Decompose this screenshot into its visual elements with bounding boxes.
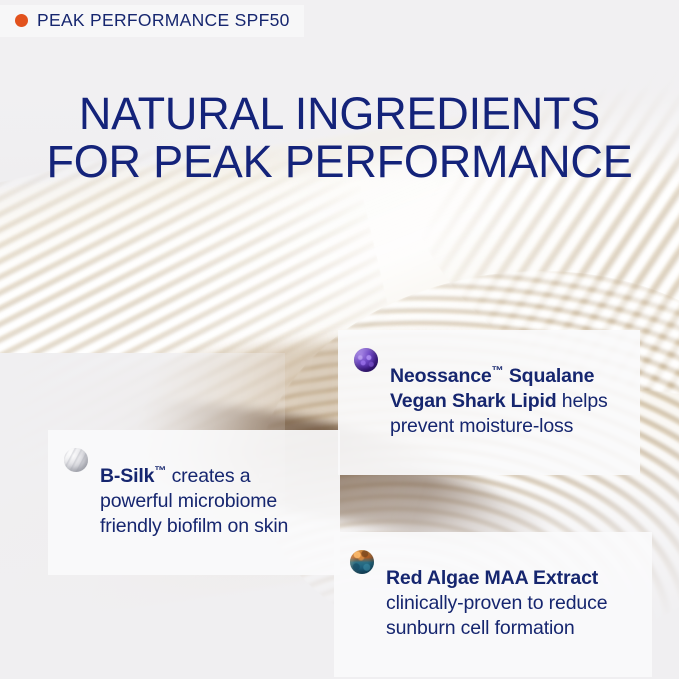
- page-title-line-2: FOR PEAK PERFORMANCE: [30, 138, 649, 186]
- trademark-symbol: ™: [492, 363, 504, 377]
- algae-bead-icon: [350, 550, 374, 574]
- ingredient-name: Red Algae MAA Extract: [386, 567, 598, 589]
- ingredient-card-squalane: Neossance™ Squalane Vegan Shark Lipid he…: [338, 330, 640, 475]
- orange-dot-icon: [15, 14, 28, 27]
- page-title: NATURAL INGREDIENTS FOR PEAK PERFORMANCE: [0, 90, 679, 185]
- ingredient-name: Neossance: [390, 365, 492, 387]
- ingredient-benefit: clinically-proven to reduce sunburn cell…: [386, 592, 607, 639]
- silver-bead-icon: [64, 448, 88, 472]
- product-badge: PEAK PERFORMANCE SPF50: [0, 5, 304, 37]
- trademark-symbol: ™: [154, 463, 166, 477]
- ingredient-card-red-algae: Red Algae MAA Extract clinically-proven …: [334, 532, 652, 677]
- ingredient-card-squalane-text: Neossance™ Squalane Vegan Shark Lipid he…: [390, 364, 624, 440]
- ingredient-card-bsilk-text: B-Silk™ creates a powerful microbiome fr…: [100, 464, 324, 540]
- product-benefits-poster: PEAK PERFORMANCE SPF50 NATURAL INGREDIEN…: [0, 0, 679, 679]
- purple-bead-icon: [354, 348, 378, 372]
- ingredient-name: B-Silk: [100, 465, 154, 487]
- ingredient-card-red-algae-text: Red Algae MAA Extract clinically-proven …: [386, 566, 636, 642]
- page-title-line-1: NATURAL INGREDIENTS: [30, 90, 649, 138]
- ingredient-card-bsilk: B-Silk™ creates a powerful microbiome fr…: [48, 430, 340, 575]
- product-badge-label: PEAK PERFORMANCE SPF50: [37, 10, 290, 31]
